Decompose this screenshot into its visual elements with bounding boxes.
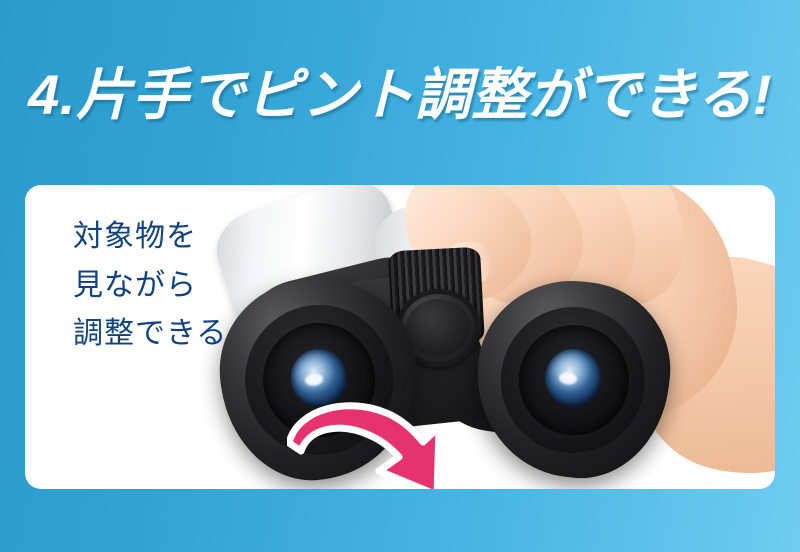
caption-line-3: 調整できる: [73, 310, 227, 359]
caption-block: 対象物を 見ながら 調整できる: [73, 213, 227, 359]
caption-line-1: 対象物を: [73, 213, 227, 262]
eyecup-left: [208, 266, 430, 489]
slide-root: 4.片手でピント調整ができる!: [0, 0, 800, 552]
page-title: 4.片手でピント調整ができる!: [0, 66, 800, 125]
eyecup-right: [466, 270, 680, 488]
caption-line-2: 見ながら: [73, 262, 227, 311]
photo-card: 対象物を 見ながら 調整できる: [25, 185, 775, 489]
